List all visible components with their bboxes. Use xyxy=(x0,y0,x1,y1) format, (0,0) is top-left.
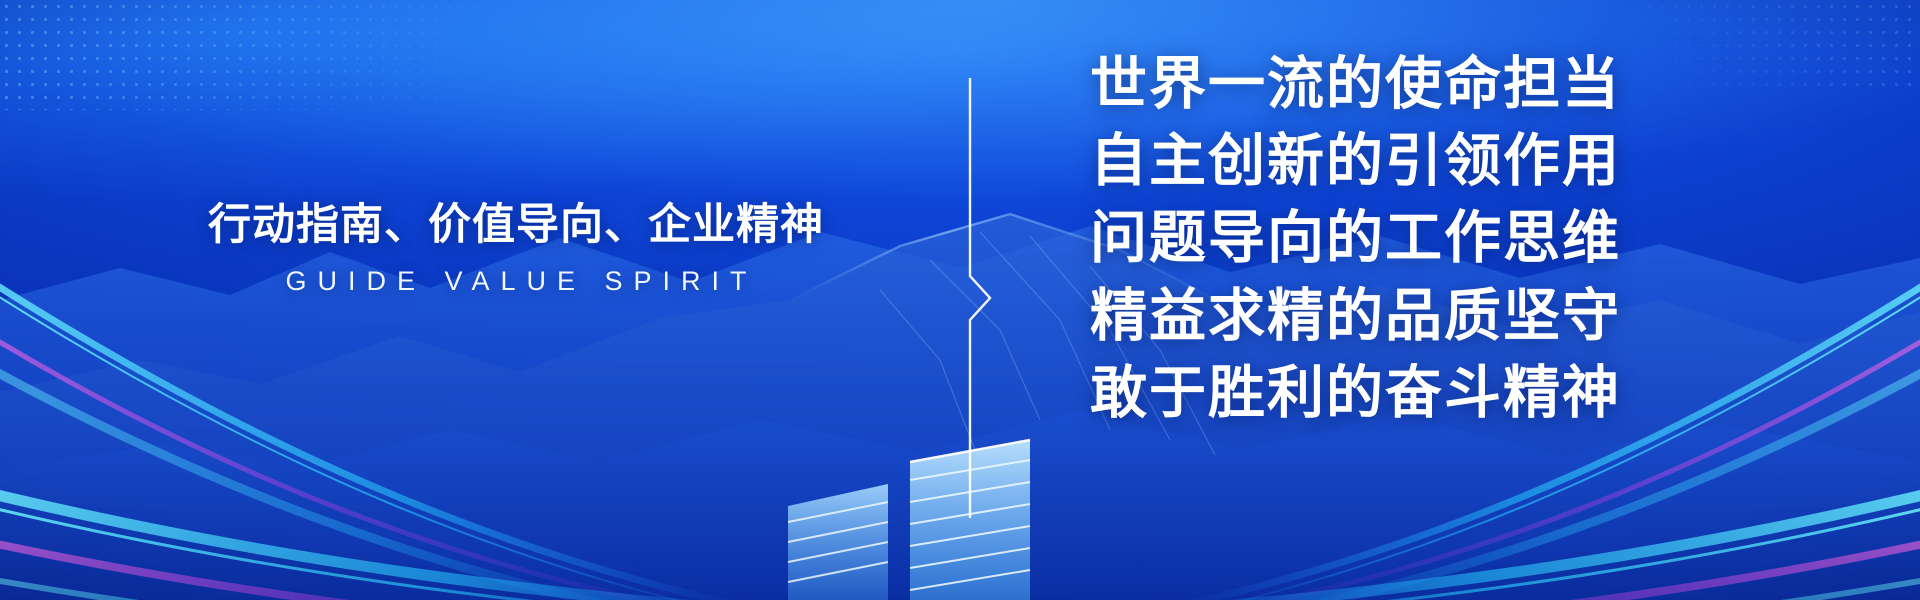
left-subtitle: GUIDE VALUE SPIRIT xyxy=(196,265,836,297)
right-line-1: 世界一流的使命担当 xyxy=(1090,46,1830,123)
culture-banner: 行动指南、价值导向、企业精神 GUIDE VALUE SPIRIT 世界一流的使… xyxy=(0,0,1920,600)
right-line-5: 敢于胜利的奋斗精神 xyxy=(1090,355,1830,432)
right-line-2: 自主创新的引领作用 xyxy=(1090,123,1830,200)
chevron-right-divider-icon xyxy=(964,78,998,518)
right-line-3: 问题导向的工作思维 xyxy=(1090,200,1830,277)
left-title: 行动指南、价值导向、企业精神 xyxy=(196,200,836,251)
right-text-block: 世界一流的使命担当 自主创新的引领作用 问题导向的工作思维 精益求精的品质坚守 … xyxy=(1090,46,1830,432)
left-text-block: 行动指南、价值导向、企业精神 GUIDE VALUE SPIRIT xyxy=(196,200,836,297)
right-line-4: 精益求精的品质坚守 xyxy=(1090,278,1830,355)
banner-content: 行动指南、价值导向、企业精神 GUIDE VALUE SPIRIT 世界一流的使… xyxy=(0,0,1920,600)
